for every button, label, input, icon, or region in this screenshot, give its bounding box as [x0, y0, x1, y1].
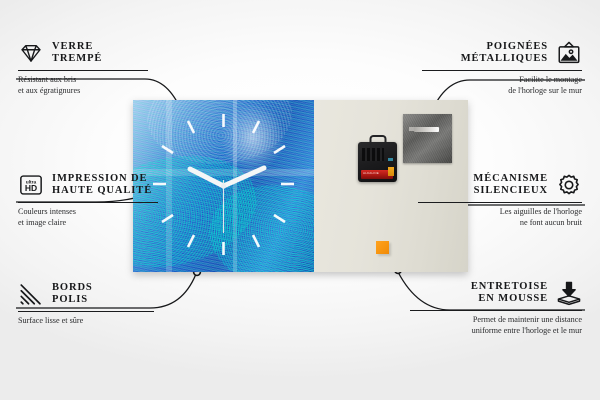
mechanism-vent	[362, 148, 384, 161]
feature-divider	[410, 310, 582, 311]
svg-text:HD: HD	[25, 183, 37, 193]
polished-edge-icon	[18, 281, 44, 307]
feature-verre-trempe: VERRETREMPÉ Résistant aux briset aux égr…	[18, 40, 190, 96]
infographic-canvas: ALKALINE VERRETREMPÉ Résistant aux brise…	[0, 0, 600, 400]
feature-divider	[418, 202, 582, 203]
minute-hand	[224, 168, 265, 186]
feature-bords-polis: BORDSPOLIS Surface lisse et sûre	[18, 281, 190, 327]
feature-title: ENTRETOISEEN MOUSSE	[471, 281, 548, 306]
feature-title: POIGNÉESMÉTALLIQUES	[461, 41, 548, 66]
feature-poignees-metalliques: POIGNÉESMÉTALLIQUES Facilite le montaged…	[410, 40, 582, 96]
feature-header: MÉCANISMESILENCIEUX	[410, 172, 582, 198]
hand-hub	[221, 183, 226, 188]
diamond-icon	[18, 40, 44, 66]
hour-hand	[190, 169, 224, 186]
mechanism-indicator	[388, 158, 393, 161]
metal-hanger-plate	[403, 114, 452, 163]
battery: ALKALINE	[361, 170, 393, 179]
feature-header: ENTRETOISEEN MOUSSE	[410, 280, 582, 306]
battery-label: ALKALINE	[363, 171, 379, 175]
feature-title: VERRETREMPÉ	[52, 41, 102, 66]
feature-header: ultra HD IMPRESSION DEHAUTE QUALITÉ	[18, 172, 190, 198]
feature-description: Surface lisse et sûre	[18, 316, 190, 327]
clock-mechanism: ALKALINE	[358, 142, 397, 182]
foam-spacer-arrow-icon	[556, 280, 582, 306]
foam-spacer	[376, 241, 389, 254]
feature-divider	[422, 70, 582, 71]
feature-description: Couleurs intenseset image claire	[18, 207, 190, 228]
feature-description: Résistant aux briset aux égratignures	[18, 75, 190, 96]
clock-hands	[190, 168, 264, 233]
hanger-plate-slot	[414, 127, 439, 132]
feature-header: BORDSPOLIS	[18, 281, 190, 307]
feature-title: IMPRESSION DEHAUTE QUALITÉ	[52, 173, 152, 198]
picture-hanger-icon	[556, 40, 582, 66]
feature-divider	[18, 70, 148, 71]
feature-description: Les aiguilles de l'horlogene font aucun …	[410, 207, 582, 228]
feature-impression-haute-qualite: ultra HD IMPRESSION DEHAUTE QUALITÉ Coul…	[18, 172, 190, 228]
feature-header: POIGNÉESMÉTALLIQUES	[410, 40, 582, 66]
feature-title: MÉCANISMESILENCIEUX	[473, 173, 548, 198]
feature-description: Facilite le montagede l'horloge sur le m…	[410, 75, 582, 96]
feature-header: VERRETREMPÉ	[18, 40, 190, 66]
ultra-hd-icon: ultra HD	[18, 172, 44, 198]
feature-description: Permet de maintenir une distanceuniforme…	[410, 315, 582, 336]
feature-entretoise-en-mousse: ENTRETOISEEN MOUSSE Permet de maintenir …	[410, 280, 582, 336]
feature-mecanisme-silencieux: MÉCANISMESILENCIEUX Les aiguilles de l'h…	[410, 172, 582, 228]
feature-divider	[18, 311, 154, 312]
feature-title: BORDSPOLIS	[52, 282, 93, 307]
gear-icon	[556, 172, 582, 198]
mechanism-hanging-loop	[369, 135, 386, 145]
battery-terminal	[388, 167, 394, 176]
feature-divider	[18, 202, 158, 203]
